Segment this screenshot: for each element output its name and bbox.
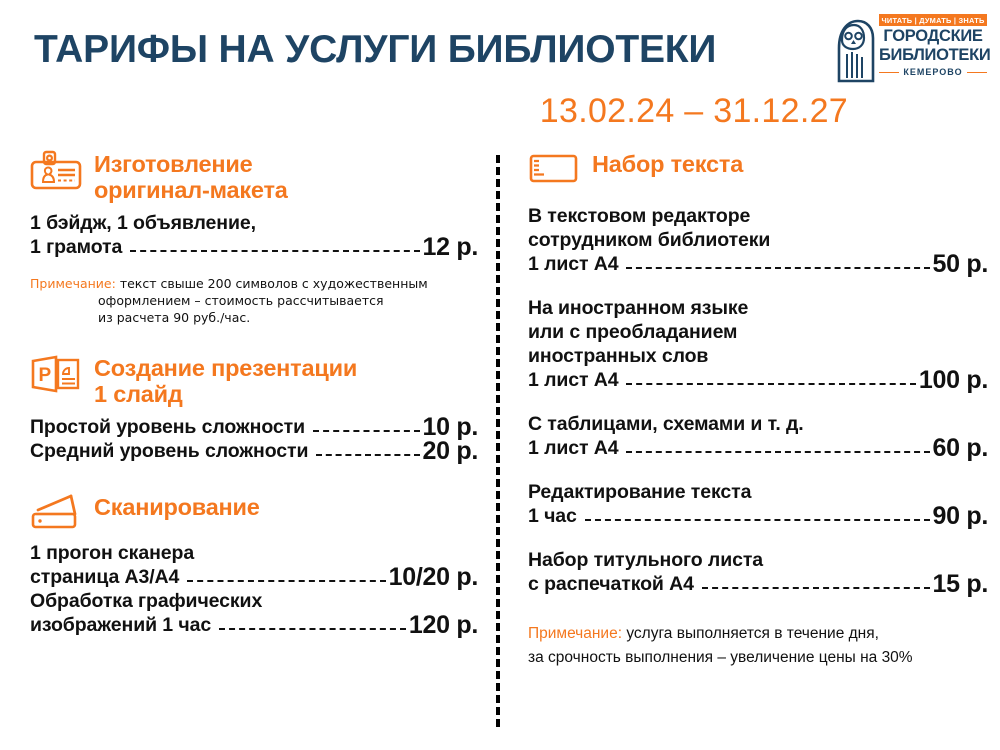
section-heading: Изготовление оригинал-макета bbox=[30, 150, 478, 203]
dash-leader bbox=[219, 628, 406, 630]
powerpoint-icon: P bbox=[30, 354, 82, 394]
section-typing: Набор текста В текстовом редакторе сотру… bbox=[528, 150, 988, 670]
item-description: 1 бэйдж, 1 объявление, bbox=[30, 211, 478, 235]
svg-text:P: P bbox=[39, 365, 52, 386]
note-line3: из расчета 90 руб./час. bbox=[30, 309, 478, 326]
item-description: В текстовом редакторе bbox=[528, 204, 988, 228]
item-label: изображений 1 час bbox=[30, 613, 211, 637]
left-column: Изготовление оригинал-макета 1 бэйдж, 1 … bbox=[30, 150, 478, 637]
section-heading: P Создание презентации 1 слайд bbox=[30, 354, 478, 407]
item-price: 120 р. bbox=[409, 613, 478, 637]
item-description: иностранных слов bbox=[528, 344, 988, 368]
item-description: С таблицами, схемами и т. д. bbox=[528, 412, 988, 436]
price-item: С таблицами, схемами и т. д. 1 лист А4 6… bbox=[528, 412, 988, 460]
note-line1: текст свыше 200 символов с художественны… bbox=[120, 276, 428, 291]
item-label: 1 грамота bbox=[30, 235, 122, 259]
section-title-line1: Изготовление bbox=[94, 151, 253, 177]
item-price: 50 р. bbox=[933, 252, 988, 276]
price-row: Простой уровень сложности 10 р. bbox=[30, 415, 478, 439]
note-lead: Примечание: bbox=[30, 276, 116, 291]
section-heading: Сканирование bbox=[30, 493, 478, 533]
logo-slogan: ЧИТАТЬ | ДУМАТЬ | ЗНАТЬ bbox=[879, 14, 987, 26]
item-price: 15 р. bbox=[933, 572, 988, 596]
section-title-line2: 1 слайд bbox=[94, 381, 183, 407]
price-row: с распечаткой А4 15 р. bbox=[528, 572, 988, 596]
item-description: или с преобладанием bbox=[528, 320, 988, 344]
scanner-icon bbox=[30, 493, 82, 533]
note-line1: услуга выполняется в течение дня, bbox=[626, 625, 879, 642]
dash-leader bbox=[626, 267, 929, 269]
item-description: Набор титульного листа bbox=[528, 548, 988, 572]
item-price: 90 р. bbox=[933, 504, 988, 528]
dash-leader bbox=[626, 451, 929, 453]
section-title: Изготовление оригинал-макета bbox=[94, 150, 288, 203]
price-item: 1 бэйдж, 1 объявление, 1 грамота 12 р. bbox=[30, 211, 478, 259]
price-item: 1 прогон сканера страница А3/А4 10/20 р.… bbox=[30, 541, 478, 637]
date-range: 13.02.24 – 31.12.27 bbox=[540, 92, 848, 131]
price-row: изображений 1 час 120 р. bbox=[30, 613, 478, 637]
price-item: Редактирование текста 1 час 90 р. bbox=[528, 480, 988, 528]
price-row: 1 час 90 р. bbox=[528, 504, 988, 528]
item-description: 1 прогон сканера bbox=[30, 541, 478, 565]
logo-text-block: ЧИТАТЬ | ДУМАТЬ | ЗНАТЬ ГОРОДСКИЕ БИБЛИО… bbox=[879, 14, 987, 77]
logo-city: КЕМЕРОВО bbox=[903, 67, 962, 77]
section-title: Набор текста bbox=[592, 150, 743, 177]
price-row: Средний уровень сложности 20 р. bbox=[30, 439, 478, 463]
section-title-line2: оригинал-макета bbox=[94, 177, 288, 203]
logo-rule-left bbox=[879, 72, 899, 74]
price-row: 1 лист А4 100 р. bbox=[528, 368, 988, 392]
price-item: Простой уровень сложности 10 р. Средний … bbox=[30, 415, 478, 463]
logo-name-line2: БИБЛИОТЕКИ bbox=[879, 47, 987, 64]
section-note: Примечание: текст свыше 200 символов с х… bbox=[30, 275, 478, 326]
item-label: 1 лист А4 bbox=[528, 436, 618, 460]
item-price: 12 р. bbox=[423, 235, 478, 259]
item-price: 20 р. bbox=[423, 439, 478, 463]
price-item: В текстовом редакторе сотрудником библио… bbox=[528, 204, 988, 276]
logo-rule-right bbox=[967, 72, 987, 74]
library-logo: ЧИТАТЬ | ДУМАТЬ | ЗНАТЬ ГОРОДСКИЕ БИБЛИО… bbox=[833, 14, 988, 90]
item-description: Обработка графических bbox=[30, 589, 478, 613]
dash-leader bbox=[626, 383, 915, 385]
item-label: страница А3/А4 bbox=[30, 565, 179, 589]
price-row: 1 лист А4 50 р. bbox=[528, 252, 988, 276]
dash-leader bbox=[316, 454, 419, 456]
item-label: 1 лист А4 bbox=[528, 368, 618, 392]
section-heading: Набор текста bbox=[528, 150, 988, 190]
price-row: 1 лист А4 60 р. bbox=[528, 436, 988, 460]
section-scanning: Сканирование 1 прогон сканера страница А… bbox=[30, 493, 478, 637]
dash-leader bbox=[702, 587, 930, 589]
owl-icon bbox=[833, 18, 875, 84]
item-description: сотрудником библиотеки bbox=[528, 228, 988, 252]
item-price: 10 р. bbox=[423, 415, 478, 439]
price-row: 1 грамота 12 р. bbox=[30, 235, 478, 259]
page-title: ТАРИФЫ НА УСЛУГИ БИБЛИОТЕКИ bbox=[34, 28, 716, 72]
price-item: На иностранном языке или с преобладанием… bbox=[528, 296, 988, 392]
item-price: 10/20 р. bbox=[389, 565, 478, 589]
item-label: 1 лист А4 bbox=[528, 252, 618, 276]
section-title-line1: Создание презентации bbox=[94, 355, 357, 381]
item-price: 100 р. bbox=[919, 368, 988, 392]
section-note: Примечание: услуга выполняется в течение… bbox=[528, 622, 988, 670]
note-line2: оформлением – стоимость рассчитывается bbox=[30, 292, 478, 309]
logo-city-row: КЕМЕРОВО bbox=[879, 67, 987, 77]
right-column: Набор текста В текстовом редакторе сотру… bbox=[528, 150, 988, 670]
item-label: Простой уровень сложности bbox=[30, 415, 305, 439]
item-label: Средний уровень сложности bbox=[30, 439, 308, 463]
text-page-icon bbox=[528, 150, 580, 190]
item-description: Редактирование текста bbox=[528, 480, 988, 504]
dash-leader bbox=[313, 430, 420, 432]
section-title: Сканирование bbox=[94, 493, 260, 520]
item-price: 60 р. bbox=[933, 436, 988, 460]
dash-leader bbox=[585, 519, 930, 521]
section-presentation: P Создание презентации 1 слайд Простой у… bbox=[30, 354, 478, 463]
note-line2: за срочность выполнения – увеличение цен… bbox=[528, 649, 913, 666]
note-lead: Примечание: bbox=[528, 625, 622, 642]
id-badge-icon bbox=[30, 150, 82, 190]
item-label: с распечаткой А4 bbox=[528, 572, 694, 596]
logo-name-line1: ГОРОДСКИЕ bbox=[879, 28, 987, 45]
section-title: Создание презентации 1 слайд bbox=[94, 354, 357, 407]
header: ТАРИФЫ НА УСЛУГИ БИБЛИОТЕКИ 13.02.24 – 3… bbox=[0, 0, 1000, 145]
price-item: Набор титульного листа с распечаткой А4 … bbox=[528, 548, 988, 596]
section-original-layout: Изготовление оригинал-макета 1 бэйдж, 1 … bbox=[30, 150, 478, 326]
column-divider bbox=[496, 155, 500, 727]
dash-leader bbox=[130, 250, 419, 252]
dash-leader bbox=[187, 580, 385, 582]
item-description: На иностранном языке bbox=[528, 296, 988, 320]
item-label: 1 час bbox=[528, 504, 577, 528]
price-row: страница А3/А4 10/20 р. bbox=[30, 565, 478, 589]
